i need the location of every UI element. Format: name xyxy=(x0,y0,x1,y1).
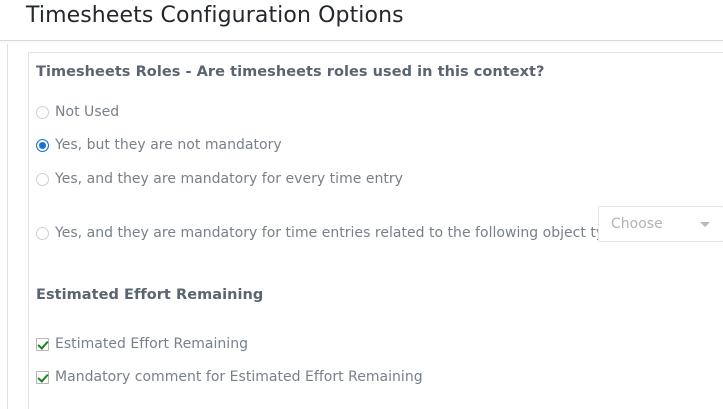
section-title-estimated-effort-remaining: Estimated Effort Remaining xyxy=(36,287,263,303)
page-left-rail xyxy=(7,44,8,409)
section-title-timesheets-roles: Timesheets Roles - Are timesheets roles … xyxy=(36,64,545,80)
checkbox-label-estimated-effort-remaining: Estimated Effort Remaining xyxy=(55,336,248,352)
radio-mandatory-object-types[interactable] xyxy=(36,227,49,240)
checkbox-mandatory-comment[interactable] xyxy=(36,371,49,384)
radio-label-mandatory-every-entry: Yes, and they are mandatory for every ti… xyxy=(55,171,403,187)
checkbox-row-mandatory-comment[interactable]: Mandatory comment for Estimated Effort R… xyxy=(36,369,423,385)
object-types-dropdown[interactable]: Choose xyxy=(598,206,723,242)
checkbox-label-mandatory-comment: Mandatory comment for Estimated Effort R… xyxy=(55,369,423,385)
radio-row-not-mandatory[interactable]: Yes, but they are not mandatory xyxy=(36,137,282,153)
radio-mandatory-every-entry[interactable] xyxy=(36,173,49,186)
radio-row-mandatory-every-entry[interactable]: Yes, and they are mandatory for every ti… xyxy=(36,171,403,187)
page-header: Timesheets Configuration Options xyxy=(0,0,723,40)
object-types-dropdown-placeholder: Choose xyxy=(611,216,663,232)
radio-row-not-used[interactable]: Not Used xyxy=(36,104,119,120)
radio-label-mandatory-object-types: Yes, and they are mandatory for time ent… xyxy=(55,225,629,241)
page-root: Timesheets Configuration Options Timeshe… xyxy=(0,0,723,409)
configuration-card: Timesheets Roles - Are timesheets roles … xyxy=(28,52,723,409)
checkbox-row-estimated-effort-remaining[interactable]: Estimated Effort Remaining xyxy=(36,336,248,352)
radio-not-mandatory[interactable] xyxy=(36,139,49,152)
radio-row-mandatory-object-types[interactable]: Yes, and they are mandatory for time ent… xyxy=(36,225,629,241)
page-title: Timesheets Configuration Options xyxy=(26,3,404,28)
radio-label-not-used: Not Used xyxy=(55,104,119,120)
header-shadow xyxy=(0,41,723,44)
chevron-down-icon[interactable] xyxy=(700,222,710,227)
radio-label-not-mandatory: Yes, but they are not mandatory xyxy=(55,137,282,153)
checkbox-estimated-effort-remaining[interactable] xyxy=(36,338,49,351)
radio-not-used[interactable] xyxy=(36,106,49,119)
